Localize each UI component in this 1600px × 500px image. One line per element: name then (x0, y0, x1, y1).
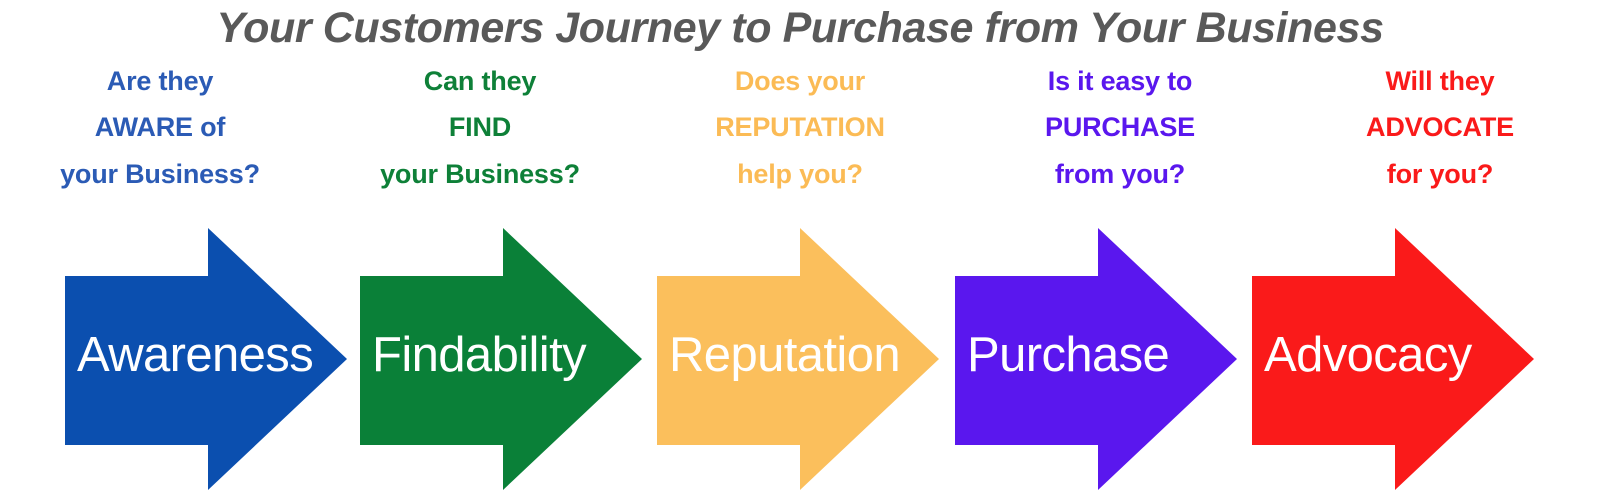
stage-arrow-awareness[interactable]: Awareness (65, 210, 365, 500)
arrow-path (65, 228, 347, 490)
arrow-shape-icon (65, 210, 365, 500)
stage-arrow-purchase[interactable]: Purchase (955, 210, 1255, 500)
arrow-shape-icon (1252, 210, 1552, 500)
arrow-path (657, 228, 939, 490)
stage-arrow-advocacy[interactable]: Advocacy (1252, 210, 1552, 500)
arrow-shape-icon (657, 210, 957, 500)
stage-arrow-findability[interactable]: Findability (360, 210, 660, 500)
arrow-path (360, 228, 642, 490)
arrow-shape-icon (955, 210, 1255, 500)
arrow-path (1252, 228, 1534, 490)
stage-arrow-reputation[interactable]: Reputation (657, 210, 957, 500)
arrow-shape-icon (360, 210, 660, 500)
arrow-path (955, 228, 1237, 490)
arrow-stage-row: Awareness Findability Reputation Purchas… (0, 0, 1600, 500)
diagram-canvas: Your Customers Journey to Purchase from … (0, 0, 1600, 500)
